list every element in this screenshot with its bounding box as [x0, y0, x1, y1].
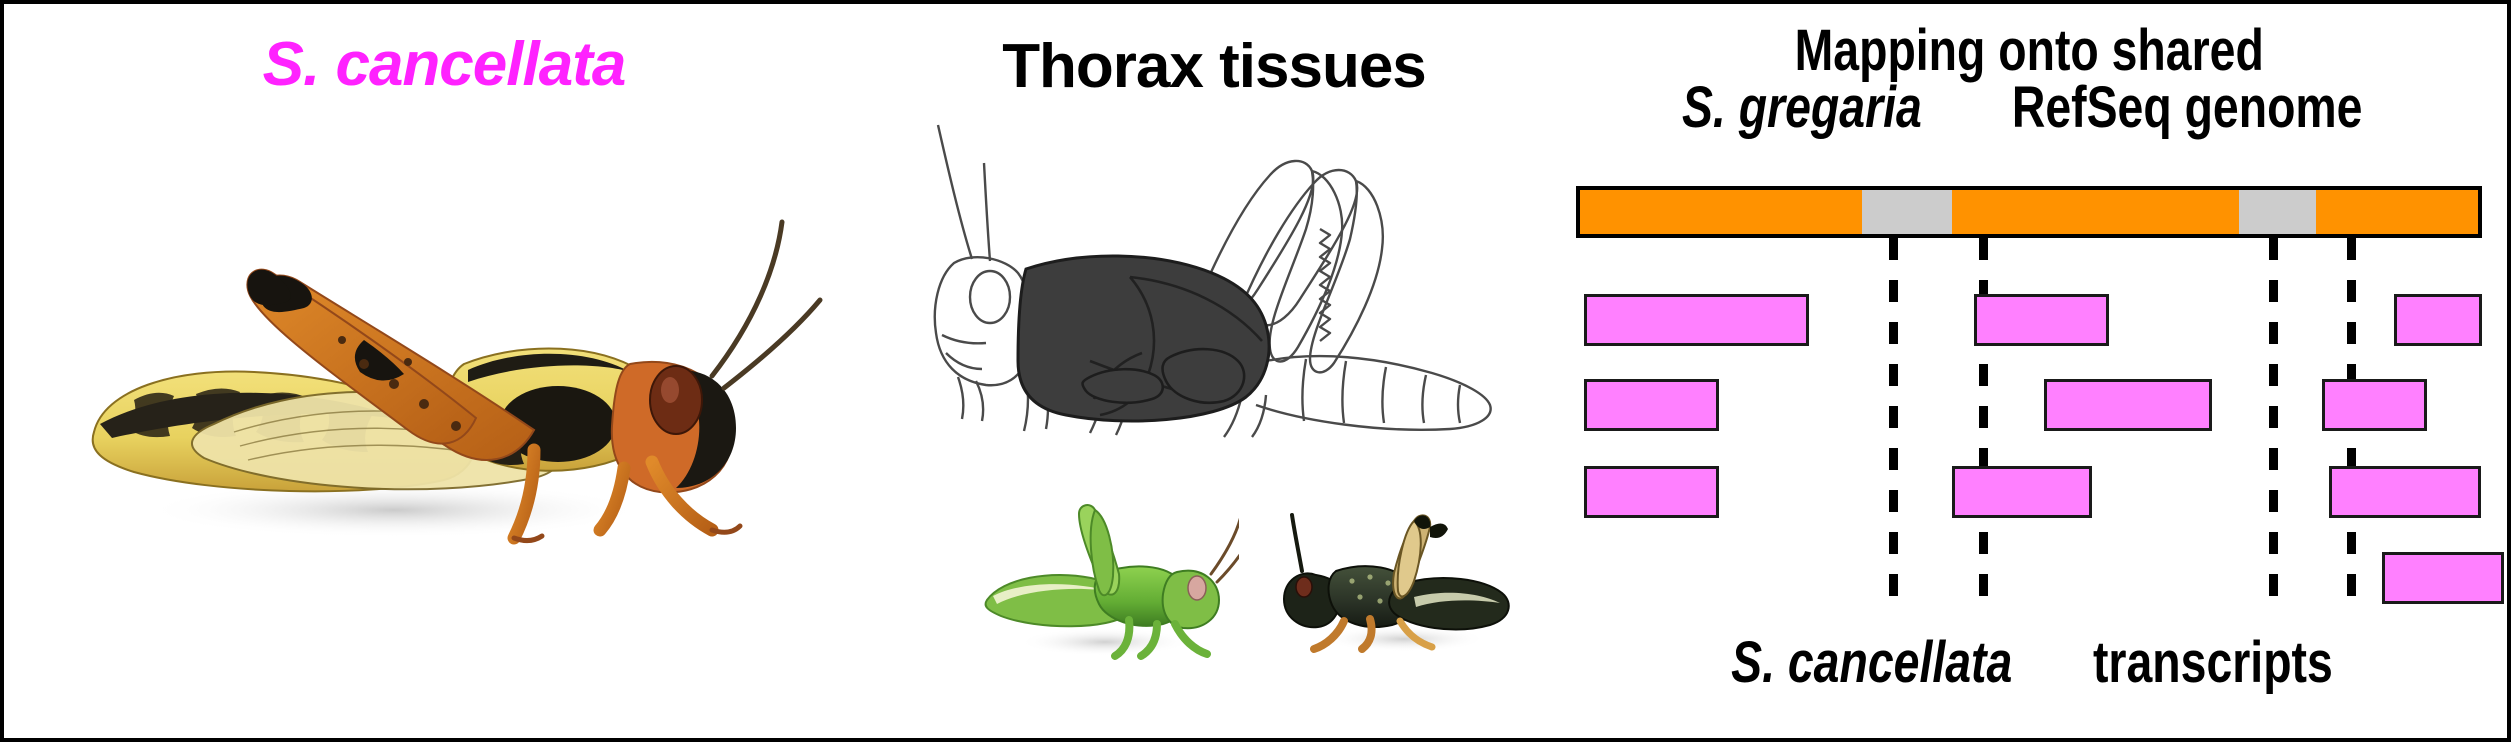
transcripts-caption-species: S. cancellata	[1731, 634, 2012, 692]
thorax-title: Thorax tissues	[884, 36, 1544, 98]
genome-segment-exon-1	[1580, 190, 1862, 234]
mapping-heading-species: S. gregaria	[1682, 79, 1922, 137]
transcript-block-r3-1	[1584, 466, 1719, 518]
transcript-block-r2-3	[2322, 379, 2427, 431]
genome-segment-exon-3	[1952, 190, 2239, 234]
transcript-block-r1-2	[1974, 294, 2109, 346]
genome-segment-gap-4	[2239, 190, 2316, 234]
mapping-heading-line1-text: Mapping onto shared	[1795, 22, 2264, 80]
transcript-block-r4-1	[2382, 552, 2504, 604]
transcript-block-r2-2	[2044, 379, 2212, 431]
adult-locust-photo	[64, 132, 824, 552]
panel-thorax: Thorax tissues	[884, 4, 1544, 738]
locust-line-drawing	[894, 109, 1534, 439]
transcript-block-r1-3	[2394, 294, 2482, 346]
panel-species: S. cancellata	[4, 4, 884, 738]
transcript-block-r2-1	[1584, 379, 1719, 431]
reference-genome-bar	[1576, 186, 2482, 238]
mapping-heading-line2: S. gregaria RefSeq genome	[1544, 79, 2511, 137]
transcripts-caption-rest: transcripts	[2093, 634, 2333, 692]
genome-segment-exon-5	[2316, 190, 2478, 234]
transcript-block-r1-1	[1584, 294, 1809, 346]
transcript-block-r3-2	[1952, 466, 2092, 518]
boundary-line-3	[2269, 238, 2278, 616]
transcript-block-r3-3	[2329, 466, 2481, 518]
graphical-abstract-figure: S. cancellata	[0, 0, 2511, 742]
transcripts-caption: S. cancellata transcripts	[1544, 634, 2511, 692]
solitarious-nymph-photo	[979, 504, 1239, 664]
mapping-heading-refseq: RefSeq genome	[2012, 79, 2363, 137]
genome-segment-gap-2	[1862, 190, 1951, 234]
panel-mapping: Mapping onto shared S. gregaria RefSeq g…	[1544, 4, 2511, 738]
species-title: S. cancellata	[4, 34, 884, 96]
mapping-heading-line1: Mapping onto shared	[1544, 22, 2511, 80]
gregarious-nymph-photo	[1274, 509, 1514, 659]
boundary-line-1	[1889, 238, 1898, 616]
